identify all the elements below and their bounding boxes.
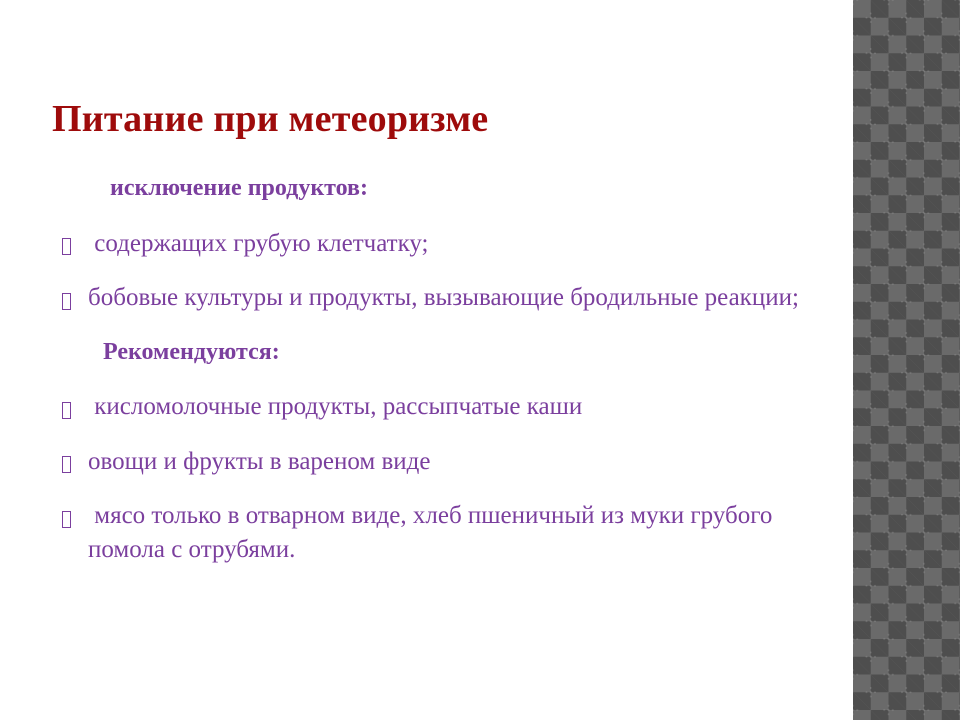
bullet-tofu-icon bbox=[62, 230, 88, 259]
slide-content-area: Питание при метеоризме исключение продук… bbox=[0, 0, 853, 720]
list-item-text: бобовые культуры и продукты, вызывающие … bbox=[88, 281, 806, 315]
bullet-tofu-icon bbox=[62, 502, 88, 531]
list-item: содержащих грубую клетчатку; bbox=[0, 227, 853, 261]
list-item-text: овощи и фрукты в вареном виде bbox=[88, 445, 806, 479]
slide-body: исключение продуктов: содержащих грубую … bbox=[0, 173, 853, 566]
decorative-argyle-band bbox=[853, 0, 960, 720]
list-item: бобовые культуры и продукты, вызывающие … bbox=[0, 281, 853, 315]
bullet-tofu-icon bbox=[62, 448, 88, 477]
list-item-text: кисломолочные продукты, рассыпчатые каши bbox=[88, 390, 806, 424]
section-heading-recommended: Рекомендуются: bbox=[103, 337, 853, 369]
bullet-tofu-icon bbox=[62, 284, 88, 313]
bullet-tofu-icon bbox=[62, 393, 88, 422]
page-title: Питание при метеоризме bbox=[52, 97, 488, 141]
section-heading-exclusion: исключение продуктов: bbox=[110, 173, 853, 205]
slide-canvas: Питание при метеоризме исключение продук… bbox=[0, 0, 960, 720]
list-item-text: мясо только в отварном виде, хлеб пшенич… bbox=[88, 499, 806, 566]
list-item: кисломолочные продукты, рассыпчатые каши bbox=[0, 390, 853, 424]
list-item-text: содержащих грубую клетчатку; bbox=[88, 227, 806, 261]
list-item: овощи и фрукты в вареном виде bbox=[0, 445, 853, 479]
list-item: мясо только в отварном виде, хлеб пшенич… bbox=[0, 499, 853, 566]
